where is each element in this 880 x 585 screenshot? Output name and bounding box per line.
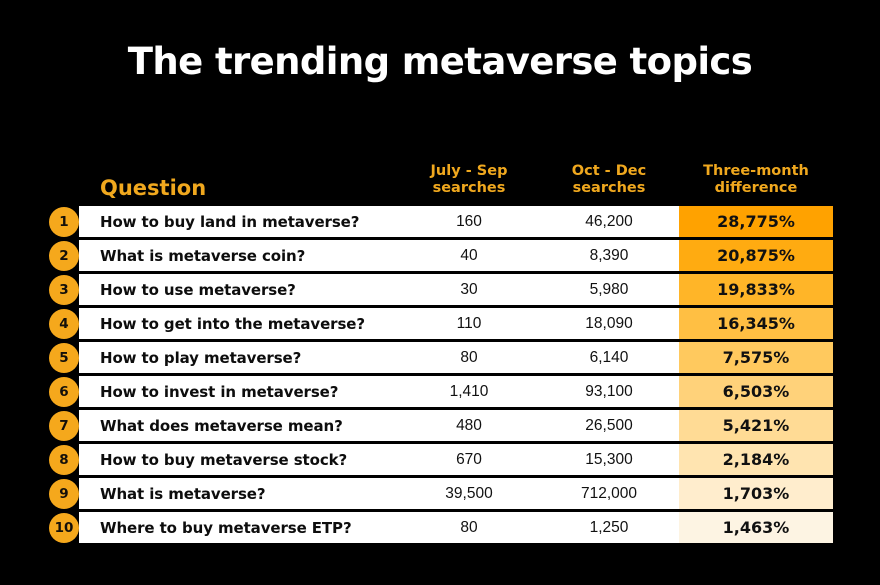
rank-badge: 2 bbox=[49, 241, 79, 271]
cell-question: How to buy metaverse stock? bbox=[79, 444, 399, 475]
cell-oct-dec-searches: 15,300 bbox=[539, 444, 679, 475]
cell-oct-dec-searches: 8,390 bbox=[539, 240, 679, 271]
cell-three-month-difference: 20,875% bbox=[679, 240, 833, 271]
table-row[interactable]: 10Where to buy metaverse ETP?801,2501,46… bbox=[79, 512, 833, 543]
cell-question: How to use metaverse? bbox=[79, 274, 399, 305]
cell-question: What is metaverse? bbox=[79, 478, 399, 509]
rank-badge: 3 bbox=[49, 275, 79, 305]
cell-three-month-difference: 16,345% bbox=[679, 308, 833, 339]
table-row[interactable]: 3How to use metaverse?305,98019,833% bbox=[79, 274, 833, 305]
cell-three-month-difference: 1,463% bbox=[679, 512, 833, 543]
cell-jul-sep-searches: 480 bbox=[399, 410, 539, 441]
header-oct-dec-line1: Oct - Dec bbox=[539, 163, 679, 180]
cell-oct-dec-searches: 5,980 bbox=[539, 274, 679, 305]
cell-question: How to invest in metaverse? bbox=[79, 376, 399, 407]
cell-oct-dec-searches: 6,140 bbox=[539, 342, 679, 373]
cell-question: Where to buy metaverse ETP? bbox=[79, 512, 399, 543]
cell-jul-sep-searches: 160 bbox=[399, 206, 539, 237]
infographic-page: The trending metaverse topics Question J… bbox=[0, 0, 880, 585]
table-header-row: Question July - Sep searches Oct - Dec s… bbox=[79, 140, 833, 206]
table-row[interactable]: 4How to get into the metaverse?11018,090… bbox=[79, 308, 833, 339]
cell-question: How to get into the metaverse? bbox=[79, 308, 399, 339]
cell-three-month-difference: 19,833% bbox=[679, 274, 833, 305]
header-jul-sep-line2: searches bbox=[399, 180, 539, 197]
table-body: 1How to buy land in metaverse?16046,2002… bbox=[79, 206, 833, 543]
cell-question: What is metaverse coin? bbox=[79, 240, 399, 271]
cell-three-month-difference: 7,575% bbox=[679, 342, 833, 373]
cell-three-month-difference: 6,503% bbox=[679, 376, 833, 407]
table-row[interactable]: 8How to buy metaverse stock?67015,3002,1… bbox=[79, 444, 833, 475]
cell-three-month-difference: 1,703% bbox=[679, 478, 833, 509]
cell-oct-dec-searches: 46,200 bbox=[539, 206, 679, 237]
cell-oct-dec-searches: 1,250 bbox=[539, 512, 679, 543]
cell-jul-sep-searches: 110 bbox=[399, 308, 539, 339]
cell-oct-dec-searches: 18,090 bbox=[539, 308, 679, 339]
table-row[interactable]: 5How to play metaverse?806,1407,575% bbox=[79, 342, 833, 373]
rank-badge: 4 bbox=[49, 309, 79, 339]
rank-badge: 1 bbox=[49, 207, 79, 237]
rank-badge: 7 bbox=[49, 411, 79, 441]
table-row[interactable]: 9What is metaverse?39,500712,0001,703% bbox=[79, 478, 833, 509]
cell-jul-sep-searches: 39,500 bbox=[399, 478, 539, 509]
trending-topics-table: Question July - Sep searches Oct - Dec s… bbox=[79, 140, 833, 543]
table-row[interactable]: 1How to buy land in metaverse?16046,2002… bbox=[79, 206, 833, 237]
rank-badge: 8 bbox=[49, 445, 79, 475]
cell-jul-sep-searches: 40 bbox=[399, 240, 539, 271]
header-jul-sep-line1: July - Sep bbox=[399, 163, 539, 180]
table-row[interactable]: 6How to invest in metaverse?1,41093,1006… bbox=[79, 376, 833, 407]
header-difference-line2: difference bbox=[679, 180, 833, 197]
header-jul-sep: July - Sep searches bbox=[399, 163, 539, 206]
cell-jul-sep-searches: 80 bbox=[399, 512, 539, 543]
cell-jul-sep-searches: 30 bbox=[399, 274, 539, 305]
cell-jul-sep-searches: 1,410 bbox=[399, 376, 539, 407]
cell-three-month-difference: 2,184% bbox=[679, 444, 833, 475]
table-row[interactable]: 2What is metaverse coin?408,39020,875% bbox=[79, 240, 833, 271]
cell-question: How to play metaverse? bbox=[79, 342, 399, 373]
rank-badge: 6 bbox=[49, 377, 79, 407]
cell-question: What does metaverse mean? bbox=[79, 410, 399, 441]
header-question: Question bbox=[79, 176, 399, 206]
header-oct-dec-line2: searches bbox=[539, 180, 679, 197]
cell-three-month-difference: 28,775% bbox=[679, 206, 833, 237]
cell-jul-sep-searches: 80 bbox=[399, 342, 539, 373]
rank-badge: 5 bbox=[49, 343, 79, 373]
cell-jul-sep-searches: 670 bbox=[399, 444, 539, 475]
cell-oct-dec-searches: 93,100 bbox=[539, 376, 679, 407]
page-title: The trending metaverse topics bbox=[0, 40, 880, 83]
rank-badge: 9 bbox=[49, 479, 79, 509]
cell-oct-dec-searches: 712,000 bbox=[539, 478, 679, 509]
cell-question: How to buy land in metaverse? bbox=[79, 206, 399, 237]
cell-three-month-difference: 5,421% bbox=[679, 410, 833, 441]
rank-badge: 10 bbox=[49, 513, 79, 543]
header-oct-dec: Oct - Dec searches bbox=[539, 163, 679, 206]
cell-oct-dec-searches: 26,500 bbox=[539, 410, 679, 441]
header-difference: Three-month difference bbox=[679, 163, 833, 206]
table-row[interactable]: 7What does metaverse mean?48026,5005,421… bbox=[79, 410, 833, 441]
header-difference-line1: Three-month bbox=[679, 163, 833, 180]
